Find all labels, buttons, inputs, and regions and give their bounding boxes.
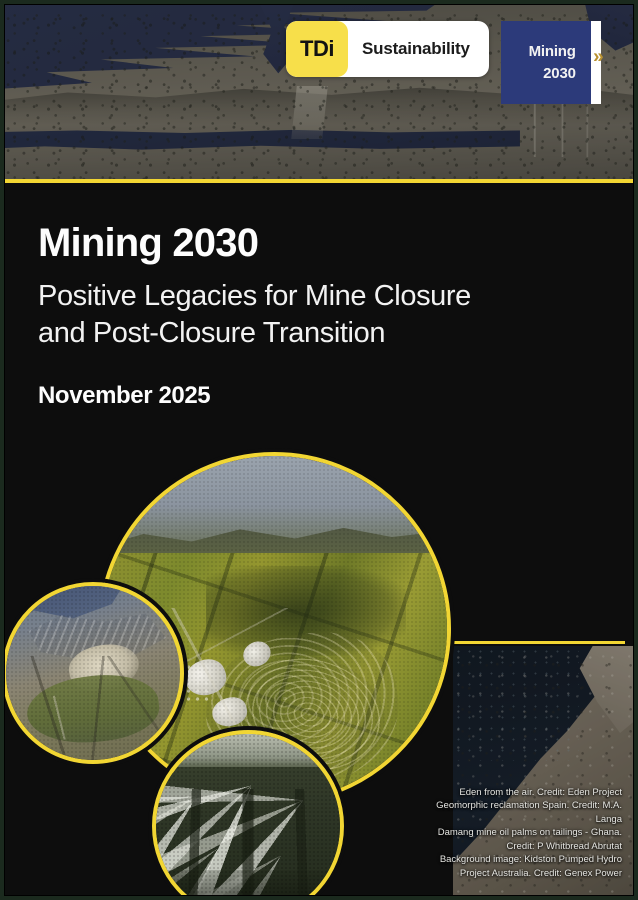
credit-line: Credit: P Whitbread Abrutat (390, 840, 622, 853)
title-block: Mining 2030 Positive Legacies for Mine C… (38, 222, 471, 410)
mining-2030-badge[interactable]: Mining 2030 » (501, 21, 593, 104)
page-subtitle-line-1: Positive Legacies for Mine Closure (38, 280, 471, 312)
credit-line: Project Australia. Credit: Genex Power (390, 867, 622, 880)
tdi-sustainability-logo[interactable]: TDi Sustainability (286, 21, 489, 77)
photo-credits: Eden from the air. Credit: Eden Project … (390, 786, 622, 880)
credit-line: Background image: Kidston Pumped Hydro (390, 853, 622, 866)
circle-photo-damang-oil-palms (152, 730, 344, 900)
credit-line: Geomorphic reclamation Spain. Credit: M.… (390, 799, 622, 812)
palm-photo-layers (156, 734, 340, 900)
credit-line: Langa (390, 813, 622, 826)
credit-line: Damang mine oil palms on tailings - Ghan… (390, 826, 622, 839)
page-title: Mining 2030 (38, 222, 471, 264)
page-subtitle-line-2: and Post-Closure Transition (38, 317, 385, 349)
tdi-logo-mark: TDi (286, 21, 348, 77)
document-cover: TDi Sustainability Mining 2030 » Mining … (0, 0, 638, 900)
background-photo-yellow-rule (453, 641, 625, 644)
mining-2030-line-1: Mining (529, 41, 576, 63)
banner-yellow-divider (5, 179, 633, 183)
logo-lockup-row: TDi Sustainability Mining 2030 » (286, 21, 593, 104)
tdi-wordmark: Sustainability (348, 21, 489, 77)
spain-photo-grain (6, 586, 180, 760)
palm-photo-grain (156, 734, 340, 900)
mining-2030-line-2: 2030 (543, 63, 576, 85)
tdi-logo-mark-text: TDi (300, 36, 334, 62)
credit-line: Eden from the air. Credit: Eden Project (390, 786, 622, 799)
publication-date: November 2025 (38, 382, 471, 410)
spain-photo-layers (6, 586, 180, 760)
page-subtitle: Positive Legacies for Mine Closure and P… (38, 278, 471, 352)
chevron-right-icon: » (593, 47, 599, 66)
